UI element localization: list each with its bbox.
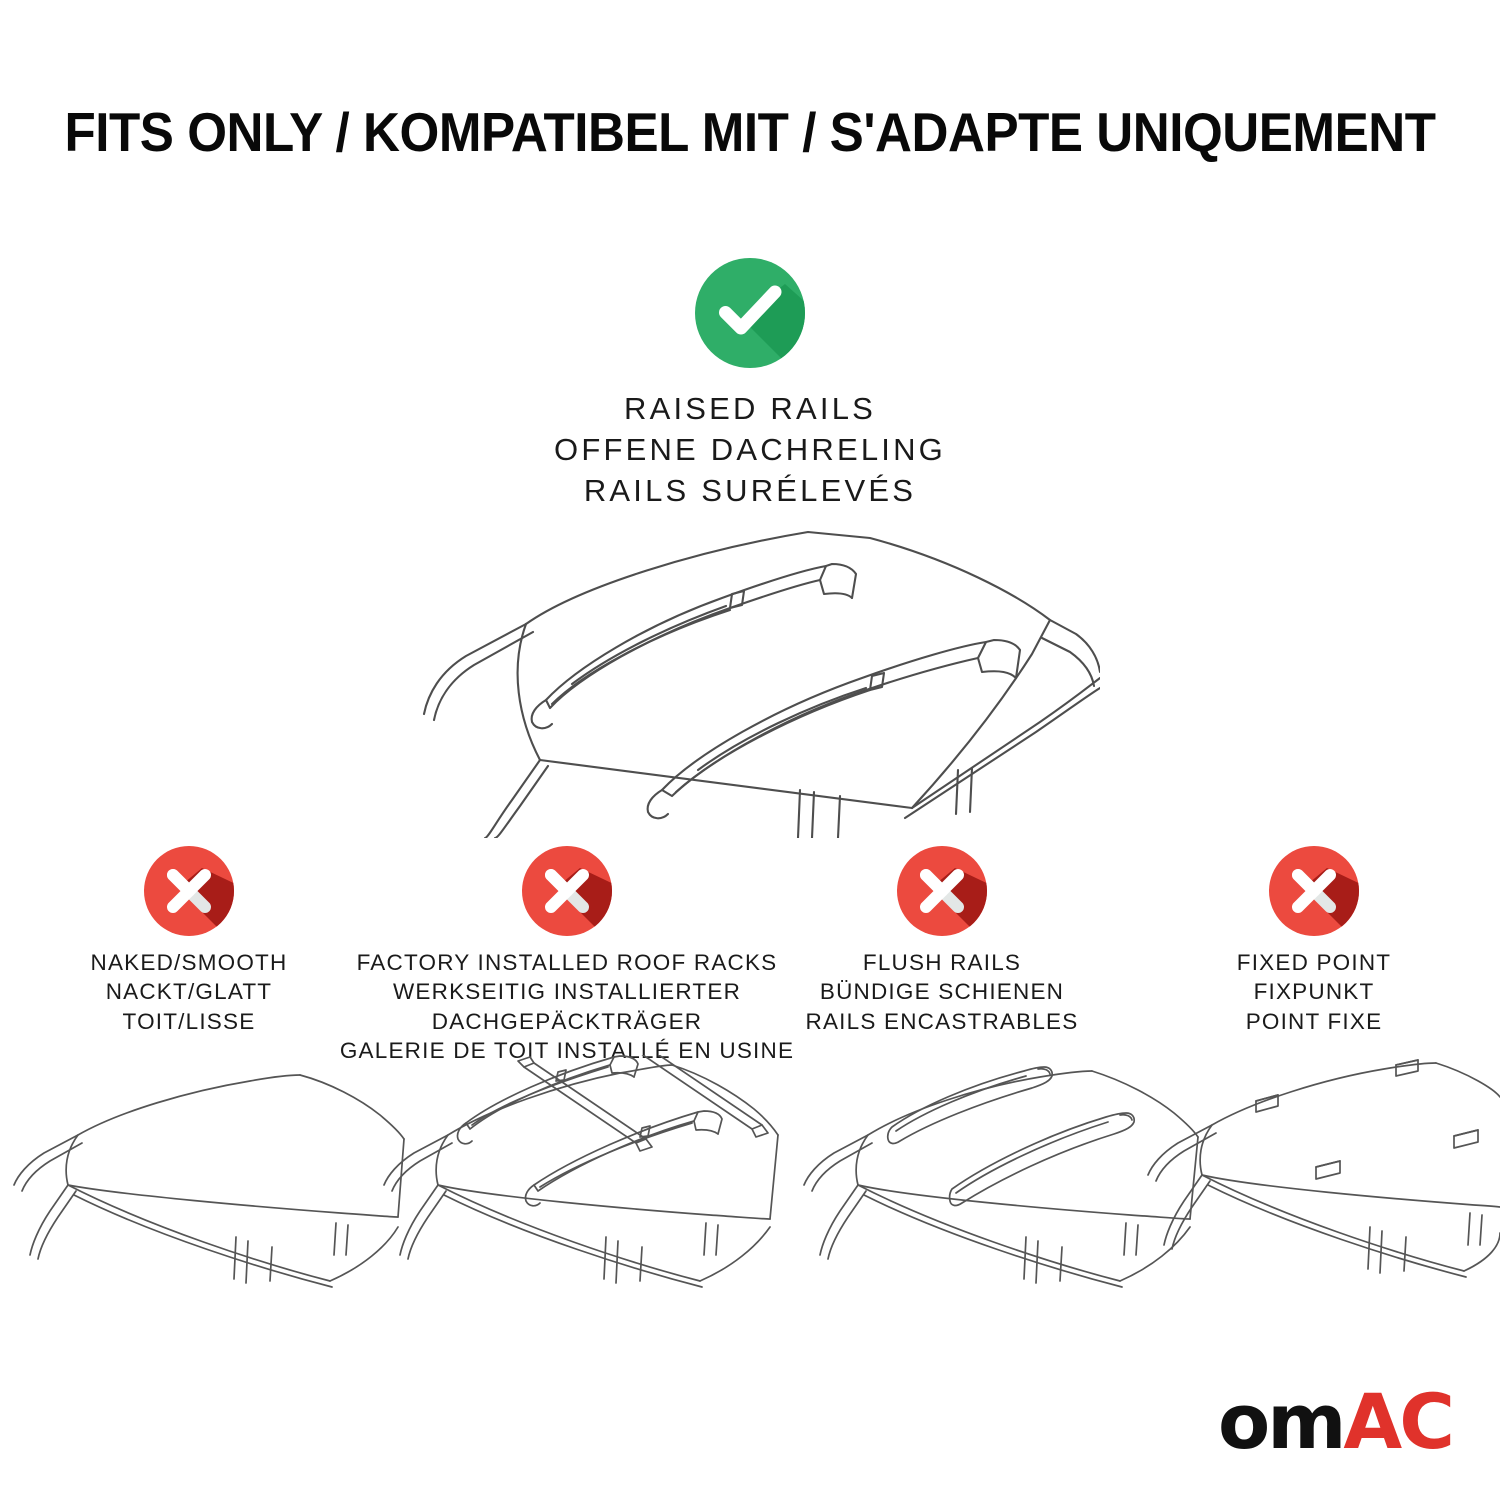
label-line: POINT FIXE [1237, 1007, 1391, 1036]
compatible-labels: RAISED RAILS OFFENE DACHRELING RAILS SUR… [0, 388, 1500, 512]
incompatible-column-naked-smooth: NAKED/SMOOTH NACKT/GLATT TOIT/LISSE [0, 846, 378, 1036]
fitment-compatibility-diagram: FITS ONLY / KOMPATIBEL MIT / S'ADAPTE UN… [0, 0, 1500, 1500]
x-circle-icon [897, 846, 987, 936]
car-roof-flush-rails [804, 1067, 1198, 1287]
label-line: TOIT/LISSE [91, 1007, 288, 1036]
label-line: FIXED POINT [1237, 948, 1391, 977]
car-roof-fixed-point [1148, 1060, 1500, 1277]
incompatible-labels-naked-smooth: NAKED/SMOOTH NACKT/GLATT TOIT/LISSE [91, 948, 288, 1036]
label-line: BÜNDIGE SCHIENEN [806, 977, 1079, 1006]
incompatible-column-flush-rails: FLUSH RAILS BÜNDIGE SCHIENEN RAILS ENCAS… [756, 846, 1128, 1036]
x-circle-icon [1269, 846, 1359, 936]
logo-text-ac: AC [1343, 1384, 1452, 1460]
incompatible-column-fixed-point: FIXED POINT FIXPUNKT POINT FIXE [1128, 846, 1500, 1036]
incompatible-illustrations [0, 1055, 1500, 1295]
label-line: DACHGEPÄCKTRÄGER [340, 1007, 794, 1036]
x-circle-icon [522, 846, 612, 936]
compatible-section: RAISED RAILS OFFENE DACHRELING RAILS SUR… [0, 258, 1500, 512]
compatible-label-fr: RAILS SURÉLEVÉS [0, 470, 1500, 511]
car-roof-naked-smooth [14, 1075, 404, 1287]
incompatible-column-factory-roof-racks: FACTORY INSTALLED ROOF RACKS WERKSEITIG … [378, 846, 756, 1065]
label-line: WERKSEITIG INSTALLIERTER [340, 977, 794, 1006]
car-roof-raised-rails-illustration [400, 508, 1100, 838]
label-line: RAILS ENCASTRABLES [806, 1007, 1079, 1036]
logo-text-om: om [1218, 1384, 1343, 1460]
page-title: FITS ONLY / KOMPATIBEL MIT / S'ADAPTE UN… [53, 104, 1448, 162]
incompatible-section: NAKED/SMOOTH NACKT/GLATT TOIT/LISSE [0, 846, 1500, 1065]
car-roof-factory-roof-racks [384, 1055, 778, 1287]
label-line: FIXPUNKT [1237, 977, 1391, 1006]
label-line: NAKED/SMOOTH [91, 948, 288, 977]
label-line: GALERIE DE TOIT INSTALLÉ EN USINE [340, 1036, 794, 1065]
label-line: NACKT/GLATT [91, 977, 288, 1006]
incompatible-labels-factory-roof-racks: FACTORY INSTALLED ROOF RACKS WERKSEITIG … [340, 948, 794, 1065]
omac-logo: omAC [1218, 1384, 1452, 1460]
incompatible-labels-fixed-point: FIXED POINT FIXPUNKT POINT FIXE [1237, 948, 1391, 1036]
label-line: FLUSH RAILS [806, 948, 1079, 977]
compatible-label-de: OFFENE DACHRELING [0, 429, 1500, 470]
label-line: FACTORY INSTALLED ROOF RACKS [340, 948, 794, 977]
compatible-label-en: RAISED RAILS [0, 388, 1500, 429]
check-circle-icon [695, 258, 805, 368]
incompatible-labels-flush-rails: FLUSH RAILS BÜNDIGE SCHIENEN RAILS ENCAS… [806, 948, 1079, 1036]
x-circle-icon [144, 846, 234, 936]
